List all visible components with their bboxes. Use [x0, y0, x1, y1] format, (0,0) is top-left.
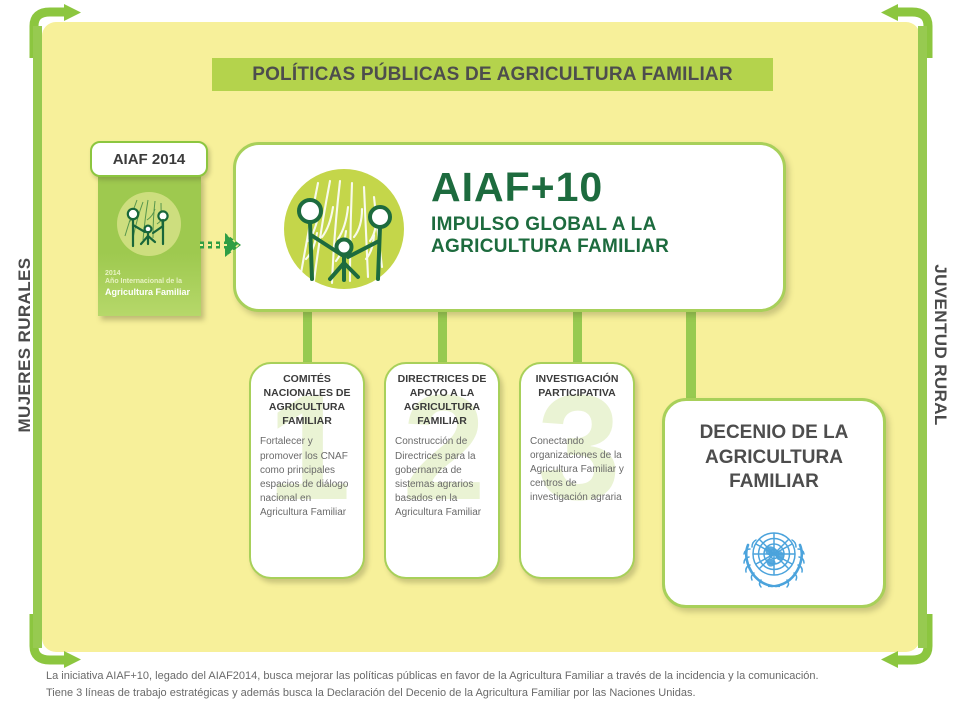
title-band: POLÍTICAS PÚBLICAS DE AGRICULTURA FAMILI… — [212, 58, 773, 91]
poster-line2: Año Internacional de la — [105, 278, 200, 286]
poster-line3: Agricultura Familiar — [105, 287, 200, 298]
aiaf-2014-label-pill[interactable]: AIAF 2014 — [90, 141, 208, 177]
line-of-work-heading-1: COMITÉS NACIONALES DE AGRICULTURA FAMILI… — [258, 373, 356, 428]
un-emblem-icon — [738, 523, 810, 591]
line-of-work-heading-2: DIRECTRICES DE APOYO A LA AGRICULTURA FA… — [393, 373, 491, 428]
poster-year: 2014 — [105, 270, 200, 278]
line-of-work-card-3[interactable]: 3 INVESTIGACIÓN PARTICIPATIVA Conectando… — [519, 362, 635, 579]
decenio-card[interactable]: DECENIO DE LA AGRICULTURA FAMILIAR — [662, 398, 886, 608]
diagram-stage: MUJERES RURALES JUVENTUD RURAL POLÍTICAS… — [0, 0, 960, 720]
line-of-work-card-1[interactable]: 1 COMITÉS NACIONALES DE AGRICULTURA FAMI… — [249, 362, 365, 579]
right-accent-bar — [918, 26, 927, 648]
side-label-juventud-rural: JUVENTUD RURAL — [930, 235, 950, 455]
caption-line-1: La iniciativa AIAF+10, legado del AIAF20… — [46, 668, 946, 685]
line-of-work-body-1: Fortalecer y promover los CNAF como prin… — [260, 435, 355, 520]
line-of-work-heading-3: INVESTIGACIÓN PARTICIPATIVA — [528, 373, 626, 401]
aiaf-2014-label: AIAF 2014 — [113, 151, 186, 168]
line-of-work-body-3: Conectando organizaciones de la Agricult… — [530, 435, 625, 506]
line-of-work-body-2: Construcción de Directrices para la gobe… — [395, 435, 490, 520]
side-label-mujeres-rurales: MUJERES RURALES — [15, 235, 35, 455]
aiaf-2014-poster: 2014 Año Internacional de la Agricultura… — [98, 176, 201, 316]
caption-line-2: Tiene 3 líneas de trabajo estratégicas y… — [46, 685, 946, 702]
aiaf-plus-10-logo-card: AIAF+10 IMPULSO GLOBAL A LA AGRICULTURA … — [233, 142, 786, 312]
connector-line-decenio — [686, 300, 696, 404]
logo-subtitle-line2: AGRICULTURA FAMILIAR — [431, 236, 771, 258]
aiaf-2014-family-circle-icon — [117, 192, 181, 256]
caption-text: La iniciativa AIAF+10, legado del AIAF20… — [46, 668, 946, 702]
logo-title: AIAF+10 — [431, 167, 771, 208]
line-of-work-card-2[interactable]: 2 DIRECTRICES DE APOYO A LA AGRICULTURA … — [384, 362, 500, 579]
aiaf-plus-10-logo-text: AIAF+10 IMPULSO GLOBAL A LA AGRICULTURA … — [431, 167, 771, 259]
decenio-heading: DECENIO DE LA AGRICULTURA FAMILIAR — [681, 421, 867, 495]
page-title: POLÍTICAS PÚBLICAS DE AGRICULTURA FAMILI… — [252, 64, 733, 86]
aiaf-plus-10-wheat-family-icon — [282, 167, 406, 291]
logo-subtitle-line1: IMPULSO GLOBAL A LA — [431, 214, 771, 236]
aiaf-2014-poster-text: 2014 Año Internacional de la Agricultura… — [105, 270, 200, 297]
dotted-arrow-icon — [198, 226, 244, 264]
